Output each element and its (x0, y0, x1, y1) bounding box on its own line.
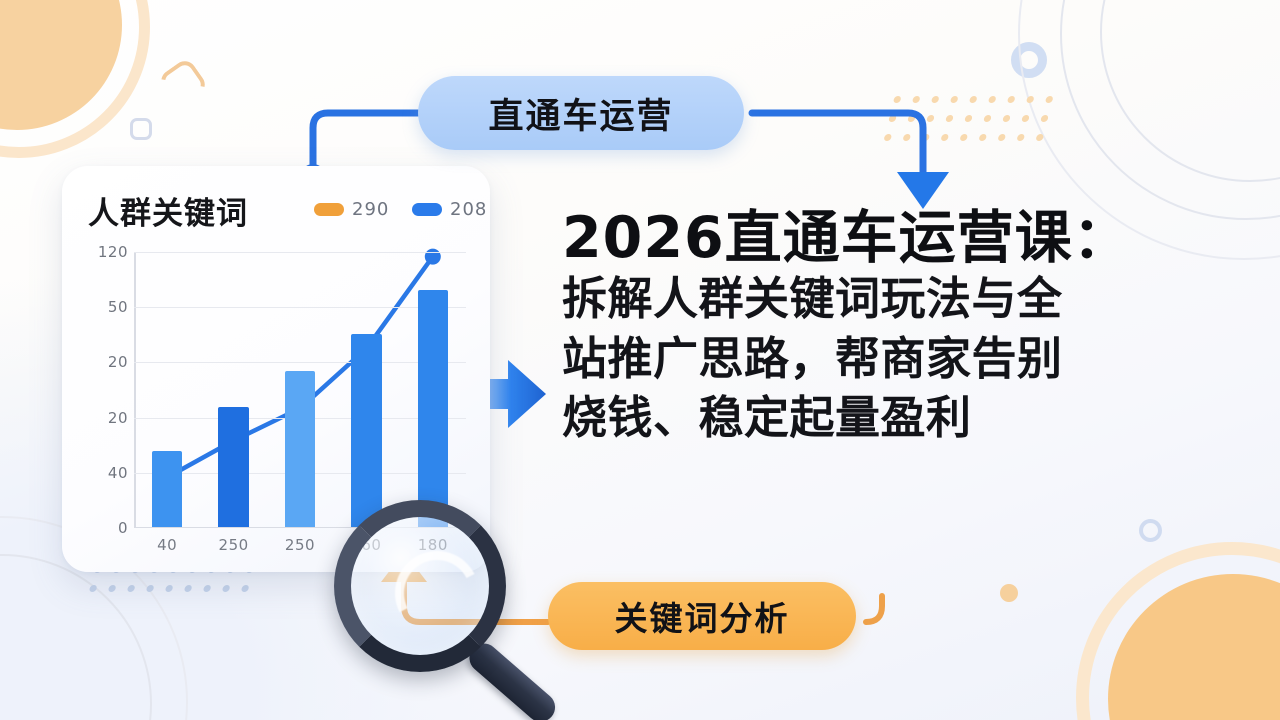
chart-card: 人群关键词 290 208 12050202040040250250260180 (62, 166, 490, 572)
line-series (90, 252, 474, 528)
badge-bottom[interactable]: 关键词分析 (548, 582, 856, 650)
chart-bar (218, 407, 249, 527)
headline-line-3: 烧钱、稳定起量盈利 (562, 389, 1252, 446)
line-point (425, 249, 441, 265)
decor-squiggle-icon (157, 57, 210, 110)
x-axis-tick-label: 40 (157, 536, 177, 554)
chart-bar (418, 290, 449, 527)
chart-title: 人群关键词 (88, 188, 248, 233)
y-axis-tick-label: 120 (98, 243, 128, 261)
decor-dot-orange (1000, 584, 1018, 602)
legend-item-bar: 208 (412, 199, 487, 220)
chart-bar (285, 371, 316, 527)
magnifier-lens (334, 500, 506, 672)
x-axis-tick-label: 250 (219, 536, 249, 554)
legend-label-orange: 290 (352, 199, 389, 220)
decor-dot-grid-orange (883, 96, 1053, 141)
legend-swatch-orange (314, 203, 344, 216)
gridline (134, 252, 466, 253)
gridline (134, 362, 466, 363)
x-axis-tick-label: 250 (285, 536, 315, 554)
decor-rounded-square (130, 118, 152, 140)
headline-line-1: 拆解人群关键词玩法与全 (562, 270, 1252, 327)
magnifying-glass-icon (330, 496, 530, 696)
chart-bar (152, 451, 183, 527)
headline-block: 2026直通车运营课： 拆解人群关键词玩法与全 站推广思路，帮商家告别 烧钱、稳… (562, 208, 1252, 446)
decor-ring-blue-bottom-right (1139, 519, 1162, 542)
legend-label-blue: 208 (450, 199, 487, 220)
chart-plot-area: 12050202040040250250260180 (90, 252, 474, 528)
y-axis-tick-label: 40 (108, 464, 128, 482)
headline-main: 2026直通车运营课： (562, 208, 1252, 268)
badge-top[interactable]: 直通车运营 (418, 76, 744, 150)
gridline (134, 307, 466, 308)
y-axis-tick-label: 0 (118, 519, 128, 537)
y-axis-tick-label: 50 (108, 298, 128, 316)
y-axis-tick-label: 20 (108, 353, 128, 371)
headline-line-2: 站推广思路，帮商家告别 (562, 330, 1252, 387)
y-axis-tick-label: 20 (108, 409, 128, 427)
legend-item-line: 290 (314, 199, 389, 220)
magnifier-gleam (384, 540, 490, 646)
legend-swatch-blue (412, 203, 442, 216)
